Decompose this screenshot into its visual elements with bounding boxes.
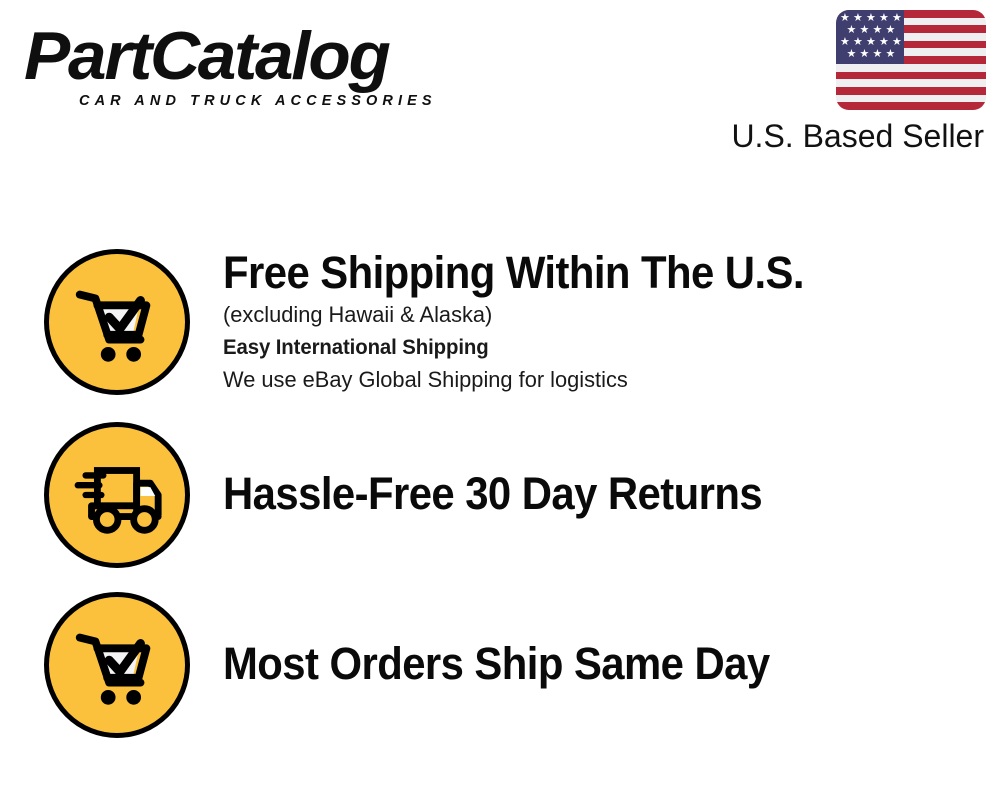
feature-subline: Easy International Shipping <box>223 331 977 364</box>
brand-wordmark: PartCatalog <box>24 22 503 90</box>
flag-stripe <box>836 102 986 110</box>
brand-tagline: CAR AND TRUCK ACCESSORIES <box>79 93 494 109</box>
feature-subline: We use eBay Global Shipping for logistic… <box>223 364 977 396</box>
feature-title: Most Orders Ship Same Day <box>223 638 946 690</box>
shopping-cart-check-icon <box>44 249 190 395</box>
feature-row: Most Orders Ship Same Day <box>0 590 1000 740</box>
header-banner: PartCatalog CAR AND TRUCK ACCESSORIES ★ … <box>0 0 1000 180</box>
delivery-truck-icon <box>44 422 190 568</box>
feature-title: Free Shipping Within The U.S. <box>223 247 946 299</box>
shopping-cart-check-icon <box>44 592 190 738</box>
feature-subline: (excluding Hawaii & Alaska) <box>223 299 977 331</box>
feature-row: Free Shipping Within The U.S. (excluding… <box>0 232 1000 412</box>
flag-stripe <box>836 72 986 80</box>
flag-stripe <box>836 87 986 95</box>
us-based-seller-badge: ★ ★ ★ ★ ★ ★ ★ ★ ★ ★ ★ ★ ★ ★ ★ ★ ★ ★ U.S.… <box>686 10 986 154</box>
feature-text: Hassle-Free 30 Day Returns <box>223 468 1000 522</box>
feature-text: Free Shipping Within The U.S. (excluding… <box>223 247 1000 398</box>
feature-row: Hassle-Free 30 Day Returns <box>0 420 1000 570</box>
us-flag-icon: ★ ★ ★ ★ ★ ★ ★ ★ ★ ★ ★ ★ ★ ★ ★ ★ ★ ★ <box>836 10 986 110</box>
feature-text: Most Orders Ship Same Day <box>223 638 1000 692</box>
brand-logo: PartCatalog CAR AND TRUCK ACCESSORIES <box>24 22 494 117</box>
us-based-seller-label: U.S. Based Seller <box>686 118 984 154</box>
flag-canton: ★ ★ ★ ★ ★ ★ ★ ★ ★ ★ ★ ★ ★ ★ ★ ★ ★ ★ <box>836 10 904 64</box>
feature-title: Hassle-Free 30 Day Returns <box>223 468 946 520</box>
